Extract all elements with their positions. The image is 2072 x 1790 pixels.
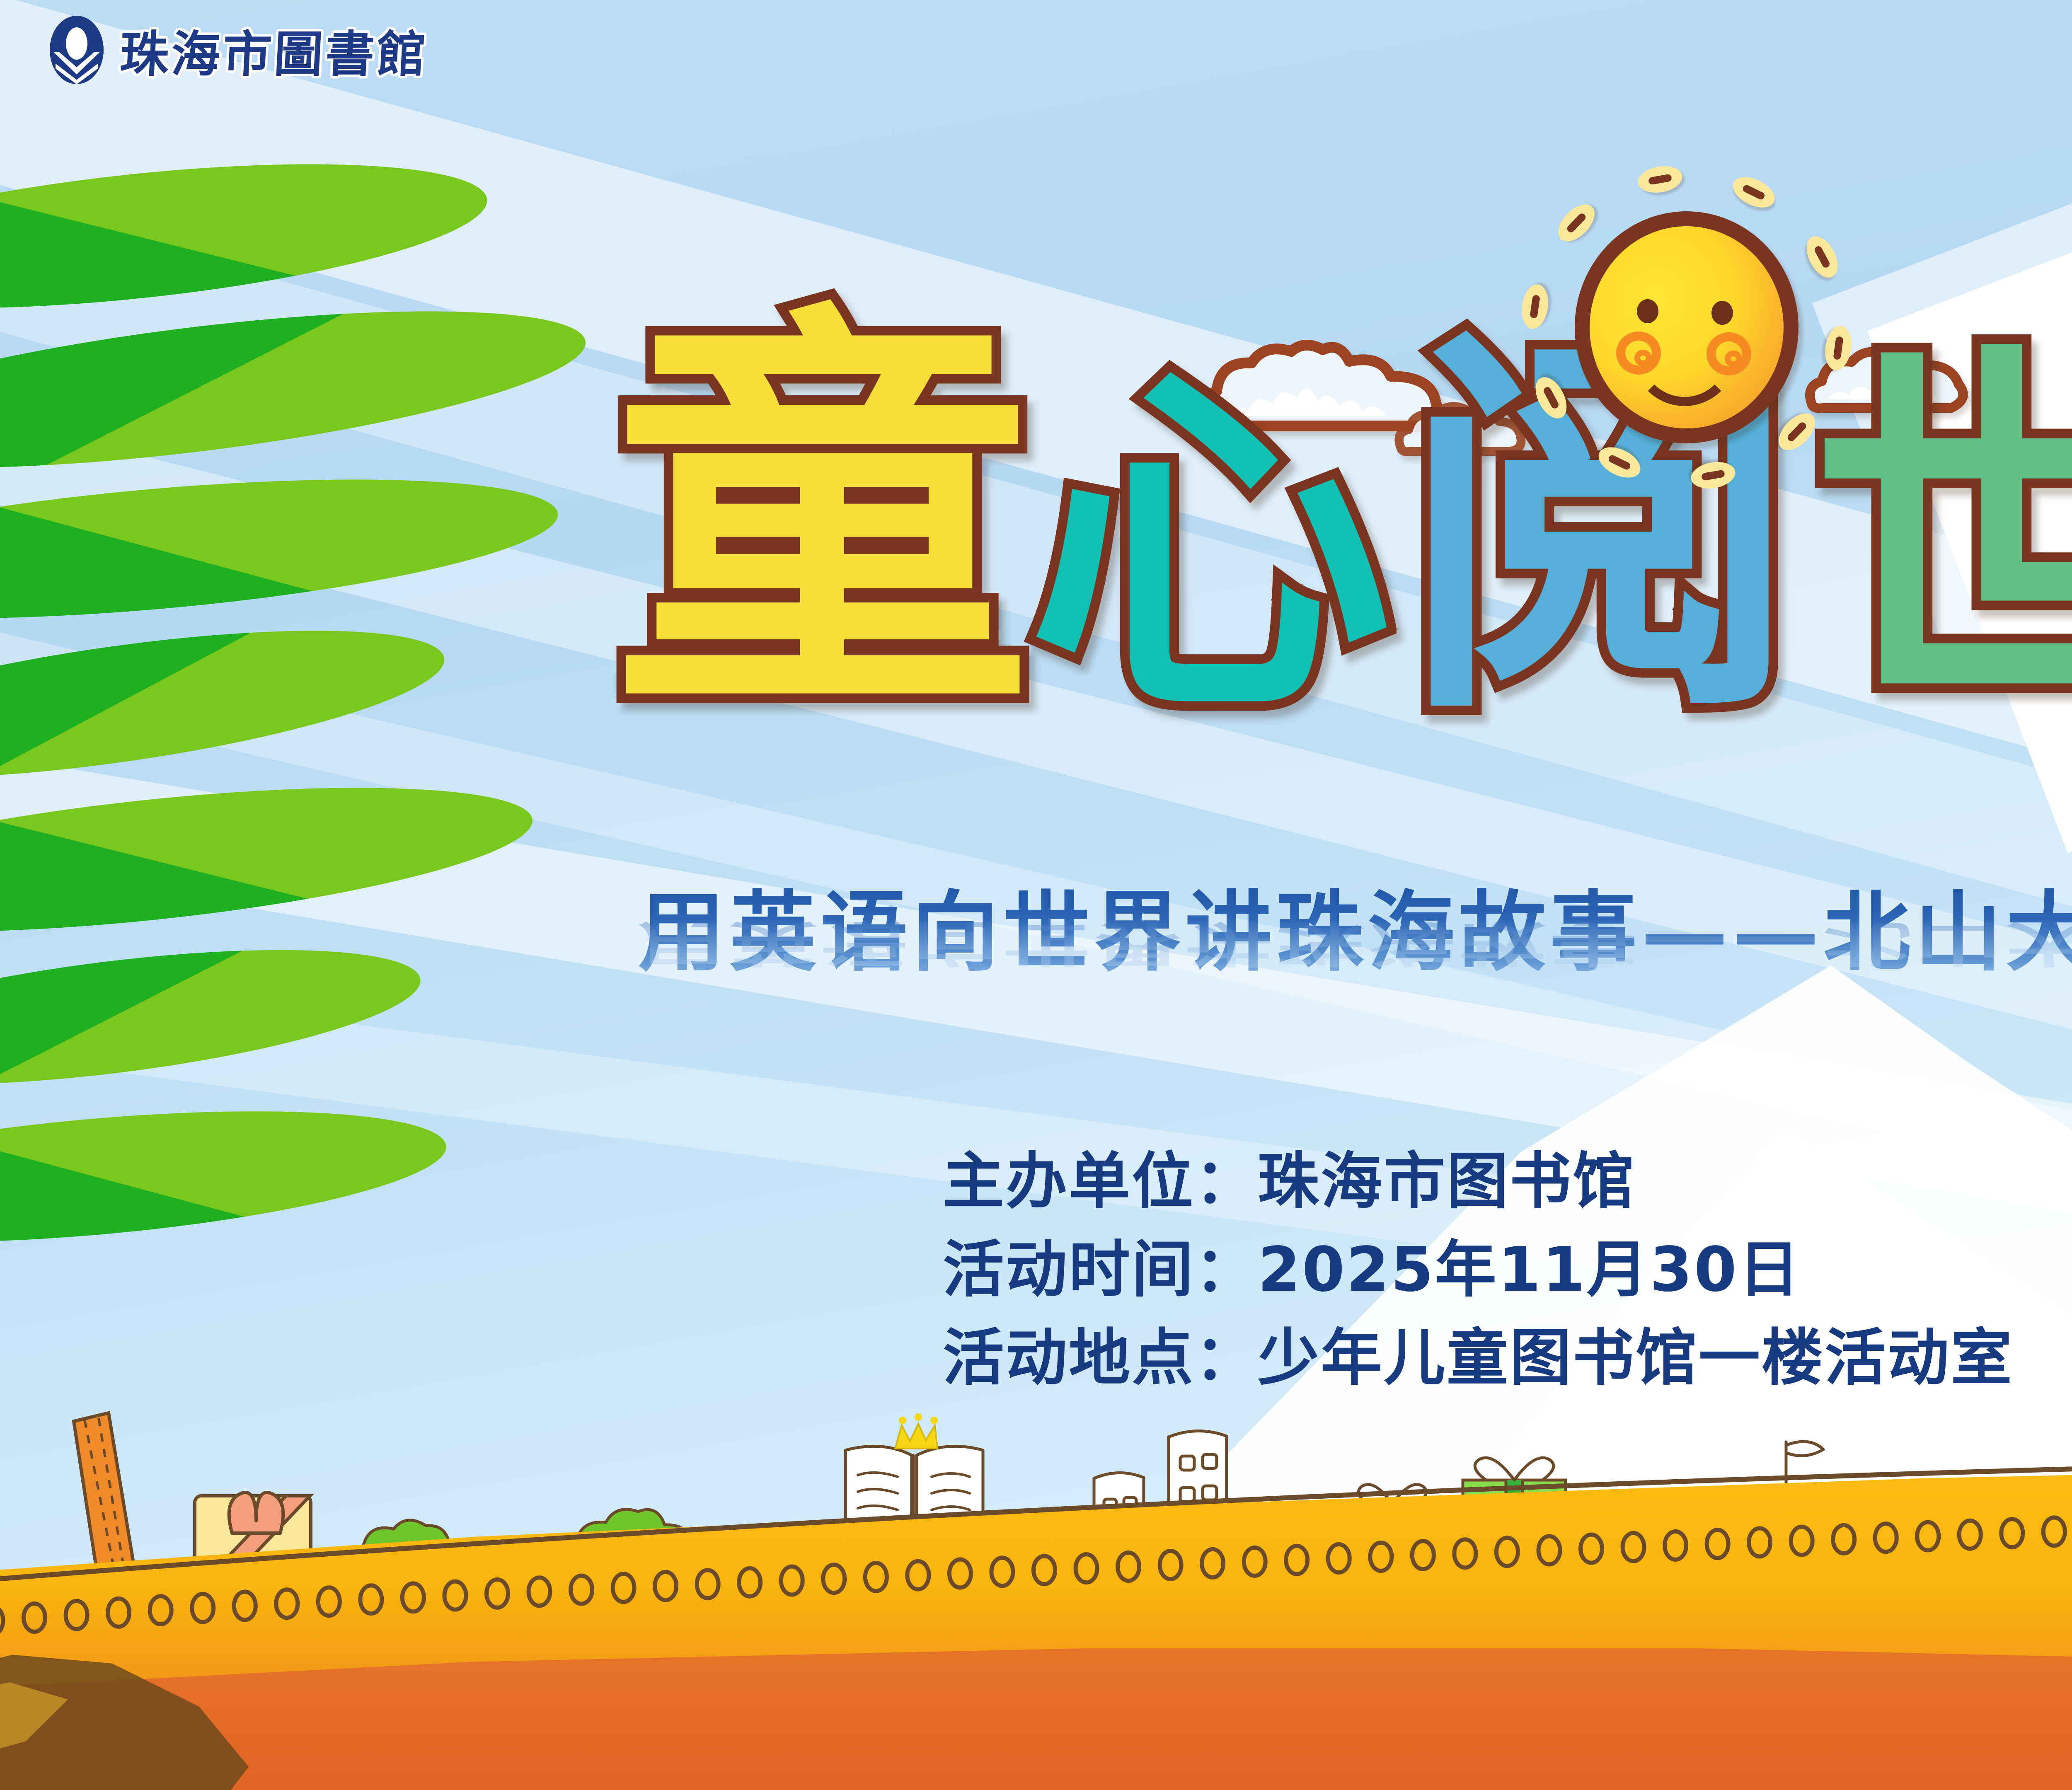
- road-dot: [1917, 1522, 1939, 1550]
- title-char-2: 心: [1028, 365, 1392, 729]
- leaf-icon: [0, 760, 539, 960]
- road-dot: [0, 1606, 3, 1635]
- road-dot: [949, 1560, 971, 1588]
- info-line-date: 活动时间：2025年11月30日: [943, 1226, 2014, 1314]
- road-band: [0, 1442, 2072, 1790]
- road-dot: [2001, 1519, 2023, 1547]
- road-dot: [697, 1570, 719, 1598]
- road-dot: [1118, 1553, 1139, 1581]
- road-dot: [1496, 1538, 1518, 1566]
- road-dot: [1328, 1544, 1350, 1572]
- library-logo: 珠海市圖書館: [50, 15, 428, 85]
- road-dot: [318, 1587, 340, 1616]
- subtitle-reflection: 用英语向世界讲珠海故事——北山大院: [638, 913, 2072, 982]
- smiling-sun-icon: [1575, 211, 1798, 443]
- road-dot: [487, 1580, 508, 1608]
- leaf-icon: [0, 454, 563, 644]
- library-emblem-icon: [50, 16, 104, 84]
- library-name-text: 珠海市圖書館: [119, 15, 431, 85]
- road-dot: [234, 1592, 256, 1620]
- leaf-icon: [0, 280, 593, 499]
- info-line-venue: 活动地点：少年儿童图书馆一楼活动室: [943, 1314, 2014, 1402]
- road-dot: [360, 1585, 382, 1613]
- road-dot: [655, 1572, 676, 1600]
- road-dot-border: [0, 1442, 2072, 1790]
- road-dot: [571, 1576, 592, 1604]
- road-dot: [1749, 1528, 1770, 1556]
- info-line-organizer: 主办单位：珠海市图书馆: [943, 1137, 2014, 1226]
- leaf-icon: [0, 601, 453, 808]
- subtitle-block: 用英语向世界讲珠海故事——北山大院 用英语向世界讲珠海故事——北山大院: [638, 862, 2072, 1108]
- road-dot: [2043, 1517, 2065, 1546]
- road-dot: [276, 1589, 298, 1618]
- road-dot: [1034, 1556, 1055, 1584]
- road-dot: [613, 1574, 634, 1602]
- road-dot: [1623, 1533, 1644, 1561]
- title-char-1: 童: [613, 309, 1032, 727]
- leaf-icon: [0, 924, 427, 1111]
- road-dot: [1244, 1548, 1266, 1576]
- road-dot: [1370, 1543, 1392, 1571]
- road-dot: [108, 1599, 129, 1627]
- road-dot: [991, 1558, 1013, 1586]
- road-dot: [1791, 1527, 1813, 1555]
- sun-ray-icon: [1636, 163, 1684, 196]
- road-dot: [1959, 1521, 1981, 1549]
- road-dot: [24, 1604, 45, 1632]
- road-dot: [1875, 1524, 1897, 1552]
- road-dot: [1286, 1546, 1307, 1574]
- poster-canvas: 珠海市圖書館 珠图少儿阅读系列活动2025年第2期（总第49期）: [0, 0, 2072, 1790]
- road-dot: [1833, 1525, 1854, 1553]
- road-dot: [1454, 1539, 1476, 1567]
- leaf-cluster-left: [0, 0, 580, 1409]
- leaf-icon: [0, 1088, 451, 1265]
- road-dot: [865, 1563, 887, 1591]
- page-title: 童 心 阅 世 界: [613, 232, 2072, 804]
- road-dot: [1707, 1530, 1728, 1558]
- leaf-icon: [0, 138, 494, 335]
- road-dot: [150, 1596, 172, 1624]
- road-dot: [823, 1565, 845, 1593]
- road-dot: [444, 1582, 466, 1610]
- road-dot: [1665, 1531, 1686, 1560]
- road-dot: [1581, 1535, 1602, 1563]
- road-dot: [1412, 1541, 1434, 1569]
- road-dot: [402, 1583, 424, 1611]
- road-dot: [66, 1601, 87, 1629]
- title-char-4: 世: [1811, 346, 2072, 731]
- road-dot: [1160, 1551, 1181, 1579]
- road-dot: [1076, 1554, 1097, 1582]
- sun-ray-icon: [1728, 171, 1779, 214]
- road-dot: [529, 1577, 550, 1606]
- road-dot: [739, 1568, 760, 1596]
- road-dot: [1202, 1549, 1223, 1577]
- road-dot: [1538, 1536, 1560, 1564]
- event-info-block: 主办单位：珠海市图书馆 活动时间：2025年11月30日 活动地点：少年儿童图书…: [943, 1137, 2014, 1402]
- road-dot: [907, 1561, 929, 1589]
- road-dot: [192, 1594, 213, 1622]
- road-dot: [781, 1567, 803, 1595]
